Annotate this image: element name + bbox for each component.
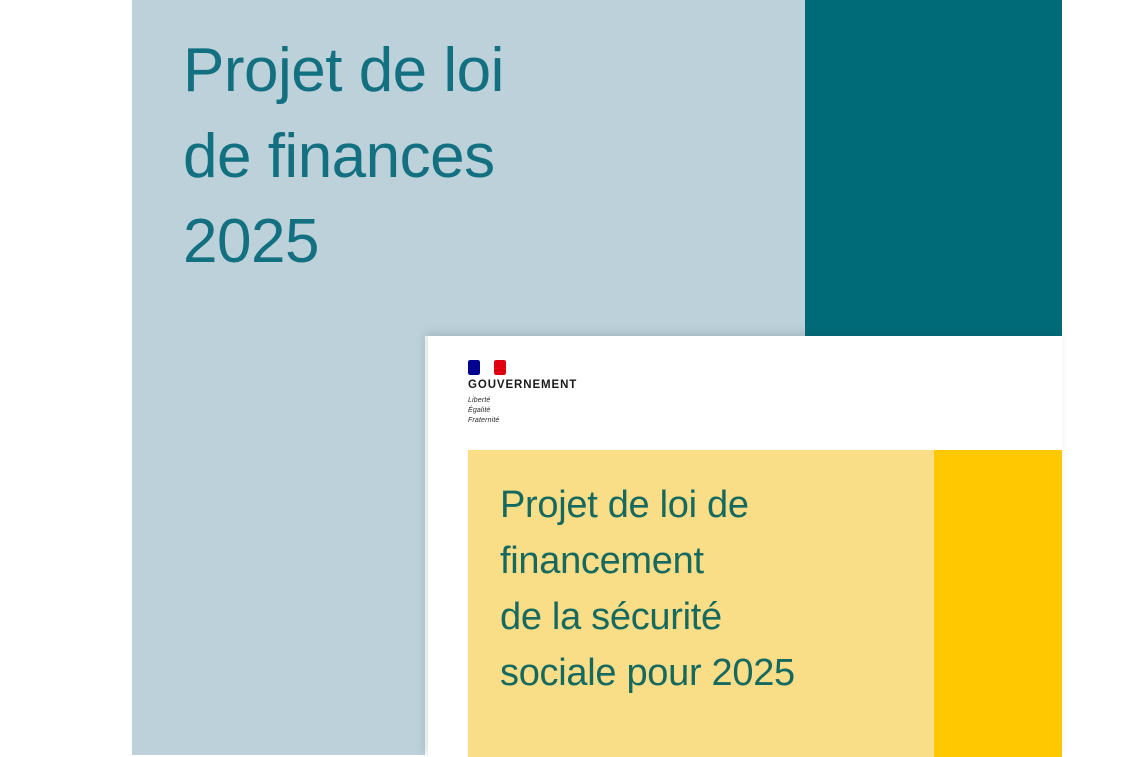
plfss-cover-sheet: GOUVERNEMENT Liberté Égalité Fraternité … bbox=[428, 336, 1062, 757]
document-covers-composition: Projet de loi de finances 2025 GOUVERNEM… bbox=[0, 0, 1140, 757]
motto-line-liberte: Liberté bbox=[468, 396, 600, 406]
plfss-cover-title: Projet de loi de financement de la sécur… bbox=[500, 478, 930, 701]
plf-cover-teal-block bbox=[805, 0, 1062, 337]
plfss-band-strong-yellow bbox=[934, 450, 1062, 757]
motto-line-fraternite: Fraternité bbox=[468, 416, 600, 426]
french-tricolour-flag-icon bbox=[468, 360, 510, 375]
motto-line-egalite: Égalité bbox=[468, 406, 600, 416]
gouvernement-wordmark: GOUVERNEMENT bbox=[468, 379, 600, 392]
gouvernement-logo: GOUVERNEMENT Liberté Égalité Fraternité bbox=[468, 360, 600, 425]
plf-cover-title: Projet de loi de finances 2025 bbox=[183, 28, 783, 285]
republique-motto: Liberté Égalité Fraternité bbox=[468, 396, 600, 426]
